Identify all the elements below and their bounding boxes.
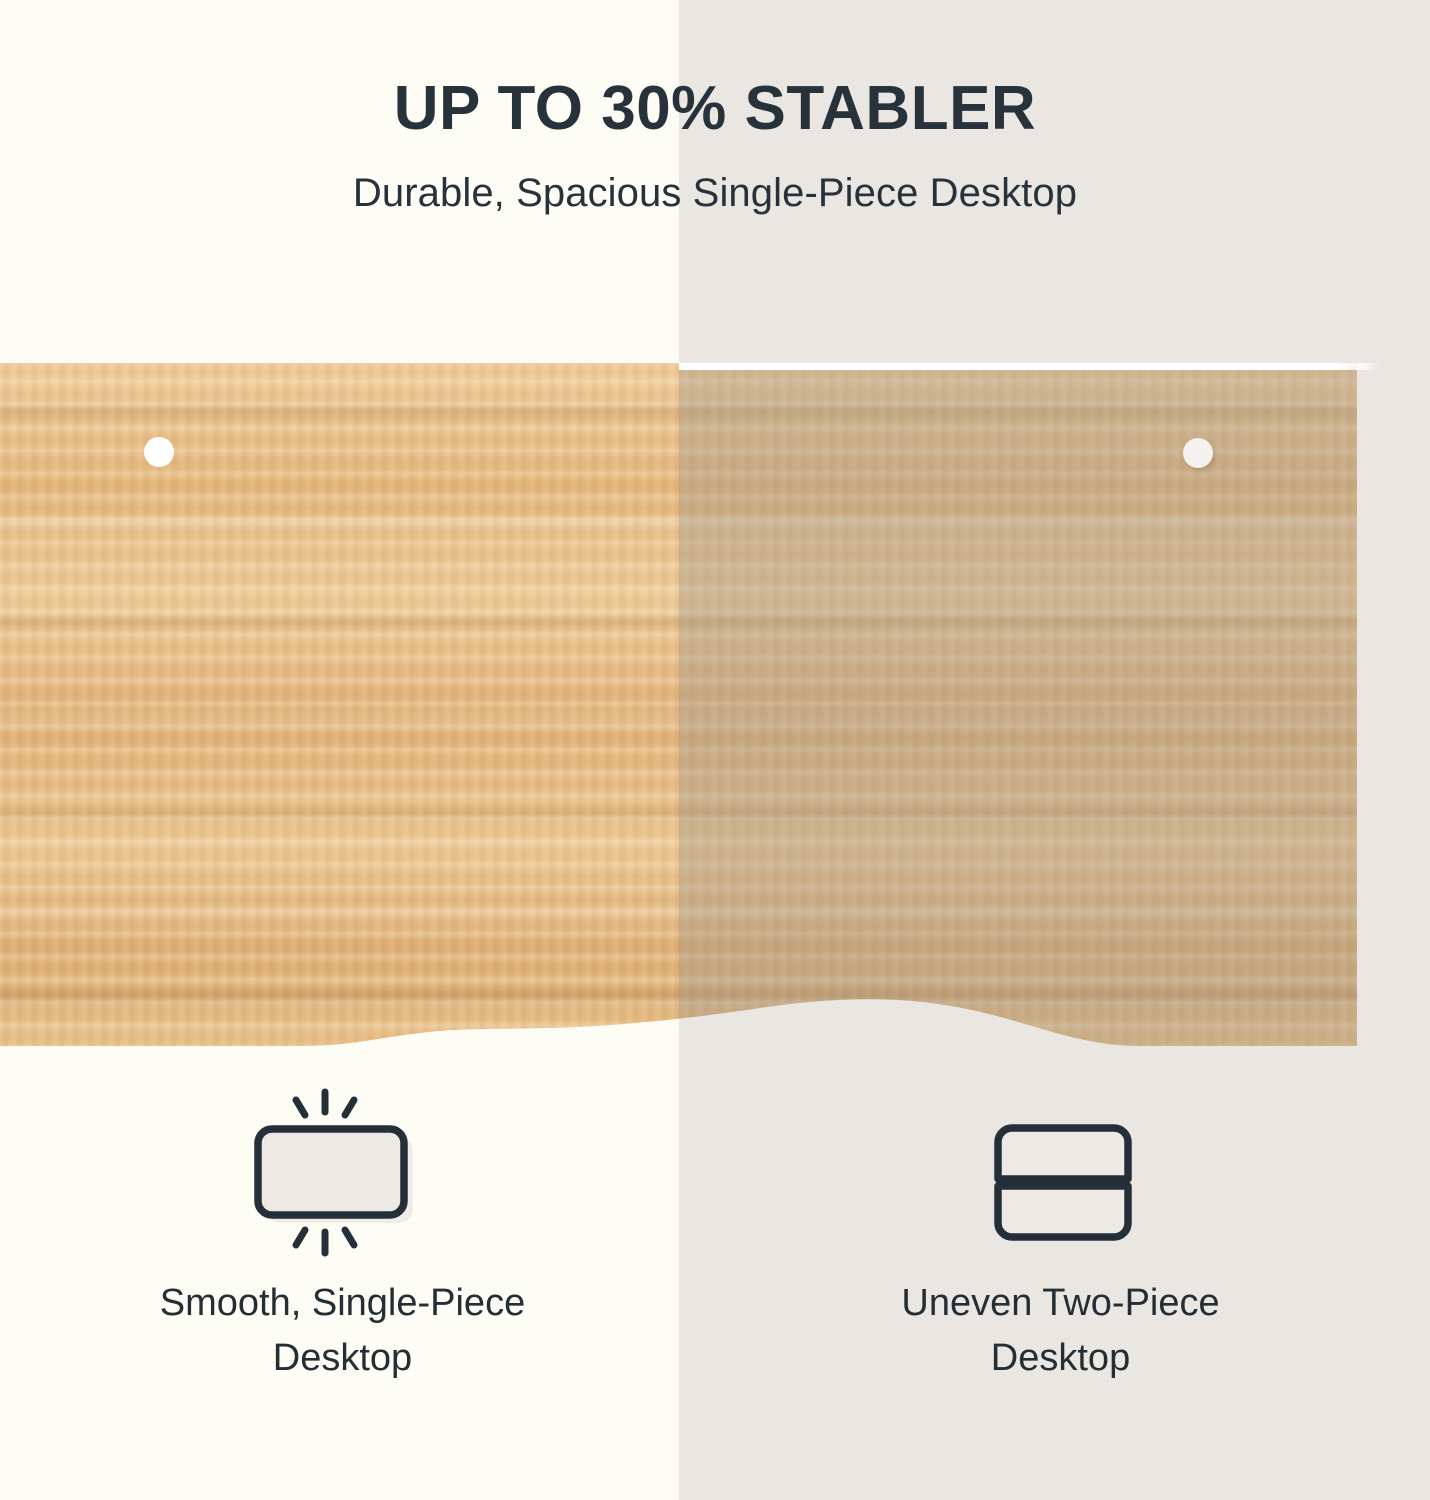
single-piece-desktop-icon <box>245 1085 435 1260</box>
two-piece-desktop-svg <box>968 1085 1158 1260</box>
comparison-caption-single-piece: Smooth, Single-Piece Desktop <box>160 1276 525 1386</box>
caption-line-2: Desktop <box>273 1337 412 1379</box>
desktop-shape-clip <box>0 363 1357 1049</box>
cable-grommet-hole-right <box>1183 438 1213 468</box>
comparison-row: Smooth, Single-Piece Desktop Uneven Two-… <box>0 1085 1430 1445</box>
two-piece-bottom-panel <box>998 1186 1128 1237</box>
desktop-product-image <box>0 363 1357 1049</box>
header: UP TO 30% STABLER Durable, Spacious Sing… <box>0 0 1430 216</box>
two-piece-top-panel <box>998 1128 1128 1179</box>
two-piece-seam-line <box>679 363 1379 370</box>
page-title: UP TO 30% STABLER <box>0 76 1430 141</box>
two-piece-desktop-icon <box>968 1085 1158 1260</box>
single-piece-desktop-svg <box>245 1085 435 1260</box>
caption-line-1: Smooth, Single-Piece <box>160 1282 525 1324</box>
caption-line-2: Desktop <box>991 1337 1130 1379</box>
cable-grommet-hole-left <box>144 437 174 467</box>
comparison-caption-two-piece: Uneven Two-Piece Desktop <box>901 1276 1219 1386</box>
comparison-cell-single-piece: Smooth, Single-Piece Desktop <box>0 1085 715 1445</box>
comparison-infographic: UP TO 30% STABLER Durable, Spacious Sing… <box>0 0 1430 1500</box>
caption-line-1: Uneven Two-Piece <box>901 1282 1219 1324</box>
page-subtitle: Durable, Spacious Single-Piece Desktop <box>0 171 1430 216</box>
sparkle-lines-bottom <box>296 1230 354 1253</box>
comparison-cell-two-piece: Uneven Two-Piece Desktop <box>715 1085 1430 1445</box>
right-half-wash-overlay <box>679 363 1357 1049</box>
sparkle-lines-top <box>296 1092 354 1115</box>
